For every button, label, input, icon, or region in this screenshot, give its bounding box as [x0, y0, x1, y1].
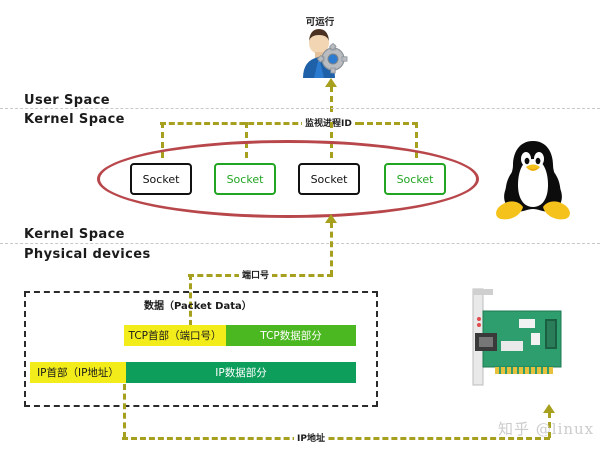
network-interface-card-icon	[455, 285, 575, 397]
label-kernel-space-top: Kernel Space	[24, 112, 125, 127]
packet-data-title: 数据（Packet Data）	[144, 297, 252, 312]
connector-label-ip-address: IP地址	[294, 431, 328, 444]
ip-data-segment: IP数据部分	[126, 362, 356, 383]
ip-header-segment: IP首部（IP地址）	[30, 362, 126, 383]
label-user-space: User Space	[24, 93, 110, 108]
diagram-canvas: 可运行	[0, 0, 600, 453]
socket-box-4[interactable]: Socket	[384, 163, 446, 195]
socket-label: Socket	[143, 173, 180, 186]
socket-box-1[interactable]: Socket	[130, 163, 192, 195]
socket-label: Socket	[311, 173, 348, 186]
label-physical-devices: Physical devices	[24, 247, 151, 262]
linux-penguin-icon	[489, 137, 577, 223]
ip-address-bus	[122, 437, 550, 440]
connector-label-port-number: 端口号	[239, 268, 272, 281]
socket-box-2[interactable]: Socket	[214, 163, 276, 195]
socket-label: Socket	[397, 173, 434, 186]
socket-box-3[interactable]: Socket	[298, 163, 360, 195]
tcp-data-segment: TCP数据部分	[226, 325, 356, 346]
user-process-icon	[295, 26, 351, 82]
arrow-to-user-process	[325, 78, 337, 87]
ip-packet-row: IP首部（IP地址） IP数据部分	[30, 362, 356, 383]
connector-label-monitor-pid: 监视进程ID	[302, 116, 355, 129]
ip-address-drop-to-ip-header	[123, 384, 126, 438]
kernel-physical-separator	[0, 243, 600, 244]
user-kernel-separator	[0, 108, 600, 109]
tcp-packet-row: TCP首部（端口号） TCP数据部分	[124, 325, 356, 346]
monitor-pid-bus-right	[358, 122, 418, 125]
port-number-riser	[330, 222, 333, 276]
watermark: 知乎 @linux	[498, 418, 594, 439]
socket-label: Socket	[227, 173, 264, 186]
label-kernel-space-bottom: Kernel Space	[24, 227, 125, 242]
tcp-header-segment: TCP首部（端口号）	[124, 325, 226, 346]
